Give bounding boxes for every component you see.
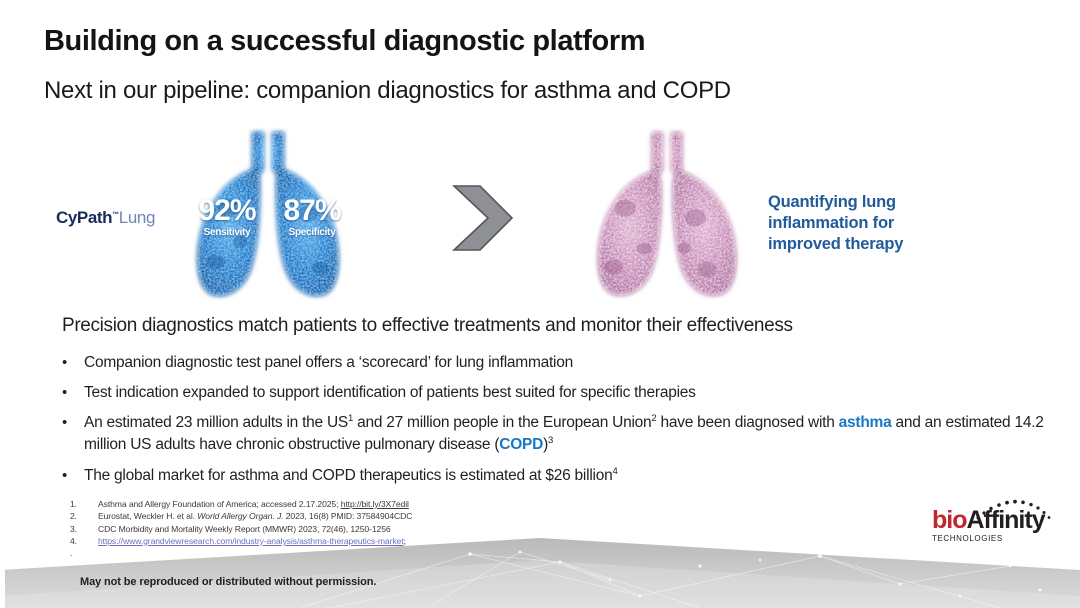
stat-value: 87% xyxy=(281,196,343,226)
text-segment: and 27 million people in the European Un… xyxy=(353,414,651,431)
list-item: • Companion diagnostic test panel offers… xyxy=(62,352,1047,373)
pink-lung-graphic xyxy=(572,122,762,307)
bullet-text: An estimated 23 million adults in the US… xyxy=(84,412,1047,456)
callout-text: Quantifying lung inflammation for improv… xyxy=(768,192,968,255)
bullet-text: Test indication expanded to support iden… xyxy=(84,382,696,403)
cypath-logo-part2: Lung xyxy=(119,208,155,227)
logo-bio: bio xyxy=(932,506,967,534)
bullet-list: • Companion diagnostic test panel offers… xyxy=(62,352,1047,495)
list-item: • An estimated 23 million adults in the … xyxy=(62,412,1047,456)
cypath-lung-logo: CyPath™Lung xyxy=(56,208,155,228)
bullet-marker: • xyxy=(62,382,84,403)
trademark-icon: ™ xyxy=(112,211,119,218)
list-item: • Test indication expanded to support id… xyxy=(62,382,1047,403)
stat-value: 92% xyxy=(196,196,258,226)
text-segment: The global market for asthma and COPD th… xyxy=(84,467,612,484)
stat-specificity: 87% Specificity xyxy=(281,196,343,238)
highlighted-term: asthma xyxy=(839,414,892,431)
reference-text: CDC Morbidity and Mortality Weekly Repor… xyxy=(98,523,391,535)
bullet-text: Companion diagnostic test panel offers a… xyxy=(84,352,573,373)
slide: Building on a successful diagnostic plat… xyxy=(0,0,1080,608)
text-segment: Companion diagnostic test panel offers a… xyxy=(84,354,573,371)
left-edge-strip xyxy=(0,0,5,608)
text-segment: An estimated 23 million adults in the US xyxy=(84,414,348,431)
footnote-marker: 3 xyxy=(548,435,553,446)
list-item: • The global market for asthma and COPD … xyxy=(62,465,1047,486)
highlighted-term: COPD xyxy=(499,436,543,453)
chevron-right-icon xyxy=(440,178,520,263)
bullet-text: The global market for asthma and COPD th… xyxy=(84,465,618,486)
footer-band xyxy=(0,536,1080,608)
reference-number: 2. xyxy=(70,510,98,522)
page-subtitle: Next in our pipeline: companion diagnost… xyxy=(44,78,731,104)
reference-item: 3. CDC Morbidity and Mortality Weekly Re… xyxy=(70,523,670,535)
stat-sensitivity: 92% Sensitivity xyxy=(196,196,258,238)
dotted-arc-icon xyxy=(974,496,1052,522)
stat-label: Specificity xyxy=(281,227,343,238)
disclaimer-text: May not be reproduced or distributed wit… xyxy=(80,576,376,588)
page-title: Building on a successful diagnostic plat… xyxy=(44,26,645,56)
bullet-marker: • xyxy=(62,465,84,486)
lead-statement: Precision diagnostics match patients to … xyxy=(62,315,793,337)
reference-link[interactable]: http://bit.ly/3X7edil xyxy=(341,499,409,509)
reference-item: 1. Asthma and Allergy Foundation of Amer… xyxy=(70,498,670,510)
bullet-marker: • xyxy=(62,412,84,433)
bullet-marker: • xyxy=(62,352,84,373)
text-segment: Test indication expanded to support iden… xyxy=(84,384,696,401)
reference-text: Asthma and Allergy Foundation of America… xyxy=(98,498,409,510)
reference-number: 3. xyxy=(70,523,98,535)
footnote-marker: 4 xyxy=(612,466,617,477)
stat-label: Sensitivity xyxy=(196,227,258,238)
reference-number: 1. xyxy=(70,498,98,510)
text-segment: have been diagnosed with xyxy=(656,414,838,431)
reference-text: Eurostat, Weckler H. et al. World Allerg… xyxy=(98,510,412,522)
reference-item: 2. Eurostat, Weckler H. et al. World All… xyxy=(70,510,670,522)
cypath-logo-part1: CyPath xyxy=(56,208,112,227)
